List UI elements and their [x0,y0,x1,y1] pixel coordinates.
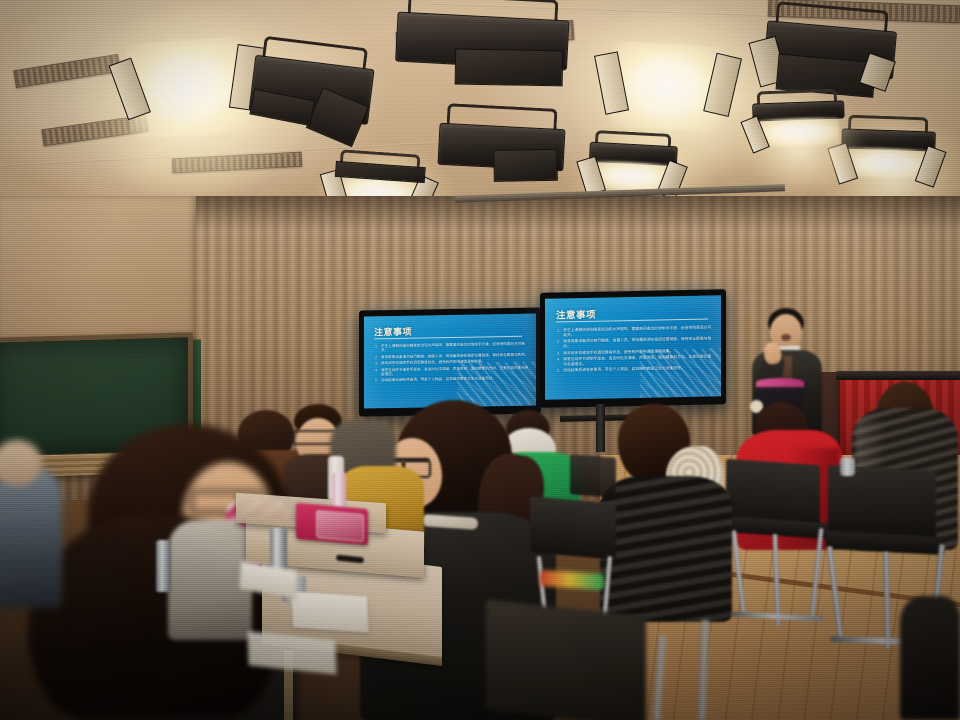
bullet-number: 4. [557,358,560,367]
water-bottle-2 [332,472,346,510]
lectern-top [836,371,960,380]
slide-right-item: 1.学生上课期间请勿随意走动和大声喧哗，需要离开座位时请举手示意，经老师同意后方… [557,325,715,337]
bullet-number: 5. [375,379,378,383]
screen-left-content: 注意事项 1.学生上课期间请勿随意走动和大声喧哗，需要离开座位时请举手示意，经老… [364,313,536,408]
bullet-text: 学生上课期间请勿随意走动和大声喧哗，需要离开座位时请举手示意，经老师同意后方可离… [381,342,530,353]
bullet-text: 录音录像设备请勿自行触碰，拍摄人员、现场嘉宾请在指定位置就座，保持安全距离与秩序… [563,337,715,349]
bullet-number: 5. [557,369,560,374]
bullet-number: 3. [557,351,560,356]
folding-chair-back-3[interactable] [530,496,616,560]
bullet-text: 学生上课期间请勿随意走动和大声喧哗，需要离开座位时请举手示意，经老师同意后方可离… [563,325,715,337]
barndoor-light-7 [437,115,564,187]
audience-far-right-lower [900,596,960,720]
bullet-text: 活动结束后请有序离场，带走个人物品，自觉维护教室卫生与设备完好。 [381,376,530,383]
barn-door-7a [493,149,558,182]
slide-left-item: 1.学生上课期间请勿随意走动和大声喧哗，需要离开座位时请举手示意，经老师同意后方… [375,342,530,353]
bullet-text: 活动结束后请有序离场，带走个人物品，自觉维护教室卫生与设备完好。 [563,366,715,374]
softlight-9 [840,126,934,187]
barndoor-light-2 [246,47,374,147]
slide-left-item: 5.活动结束后请有序离场，带走个人物品，自觉维护教室卫生与设备完好。 [375,376,530,383]
bullet-number: 1. [375,344,378,353]
slide-right-title: 注意事项 [556,307,596,322]
audience-fur-hood-woman [600,404,734,624]
slide-left-item: 4.课堂互动环节请举手发言，发言时吐字清晰、声音洪亮，面向摄像机方向，注意仪容仪… [375,365,530,376]
paper-cup-right [840,458,855,476]
bullet-number: 3. [375,361,378,365]
slide-right-item: 4.课堂互动环节请举手发言，发言时吐字清晰、声音洪亮，面向摄像机方向，注意仪容仪… [557,355,715,367]
bullet-number: 4. [375,368,378,377]
lamp-glow-10 [757,117,840,148]
lamp-glow-4 [609,41,723,133]
presentation-screen-right[interactable]: 注意事项 1.学生上课期间请勿随意走动和大声喧哗，需要离开座位时请举手示意，经老… [540,289,726,408]
slide-right-bullets: 1.学生上课期间请勿随意走动和大声喧哗，需要离开座位时请举手示意，经老师同意后方… [557,325,715,375]
fresnel-light-1 [120,30,255,143]
steel-thermos-2 [156,540,171,592]
hat-pink-trim [756,378,804,387]
bullet-text: 课堂互动环节请举手发言，发言时吐字清晰、声音洪亮，面向摄像机方向，注意仪容仪表与… [563,355,715,367]
folding-chair-back-5[interactable] [486,600,646,720]
bullet-number: 2. [375,355,378,359]
audience-far-left-blue [0,468,62,608]
black-puffer-coat [600,476,732,622]
presenter-mouth [781,334,791,341]
slide-left-bullets: 1.学生上课期间请勿随意走动和大声喧哗，需要离开座位时请举手示意，经老师同意后方… [375,342,530,385]
barndoor-light-3 [394,4,568,95]
folding-chair-back-4[interactable] [570,454,616,497]
classroom-photo: 注意事项 1.学生上课期间请勿随意走动和大声喧哗，需要离开座位时请举手示意，经老… [0,0,960,720]
slide-right-item: 5.活动结束后请有序离场，带走个人物品，自觉维护教室卫生与设备完好。 [557,366,715,374]
slide-left-title: 注意事项 [374,325,412,339]
bullet-number: 2. [557,340,560,349]
screen-right-content: 注意事项 1.学生上课期间请勿随意走动和大声喧哗，需要离开座位时请举手示意，经老… [545,295,721,399]
folding-chair-back-2[interactable] [828,465,936,541]
paper-sheet-1 [291,591,369,633]
fresnel-light-4 [605,35,728,135]
barn-door-3a [455,48,564,86]
bullet-number: 1. [557,328,560,337]
pencil-case-clear-lid [316,510,364,542]
bullet-text: 课堂互动环节请举手发言，发言时吐字清晰、声音洪亮，面向摄像机方向，注意仪容仪表与… [381,365,530,376]
softlight-10 [752,98,844,155]
slide-right-item: 2.录音录像设备请勿自行触碰，拍摄人员、现场嘉宾请在指定位置就座，保持安全距离与… [557,337,715,349]
